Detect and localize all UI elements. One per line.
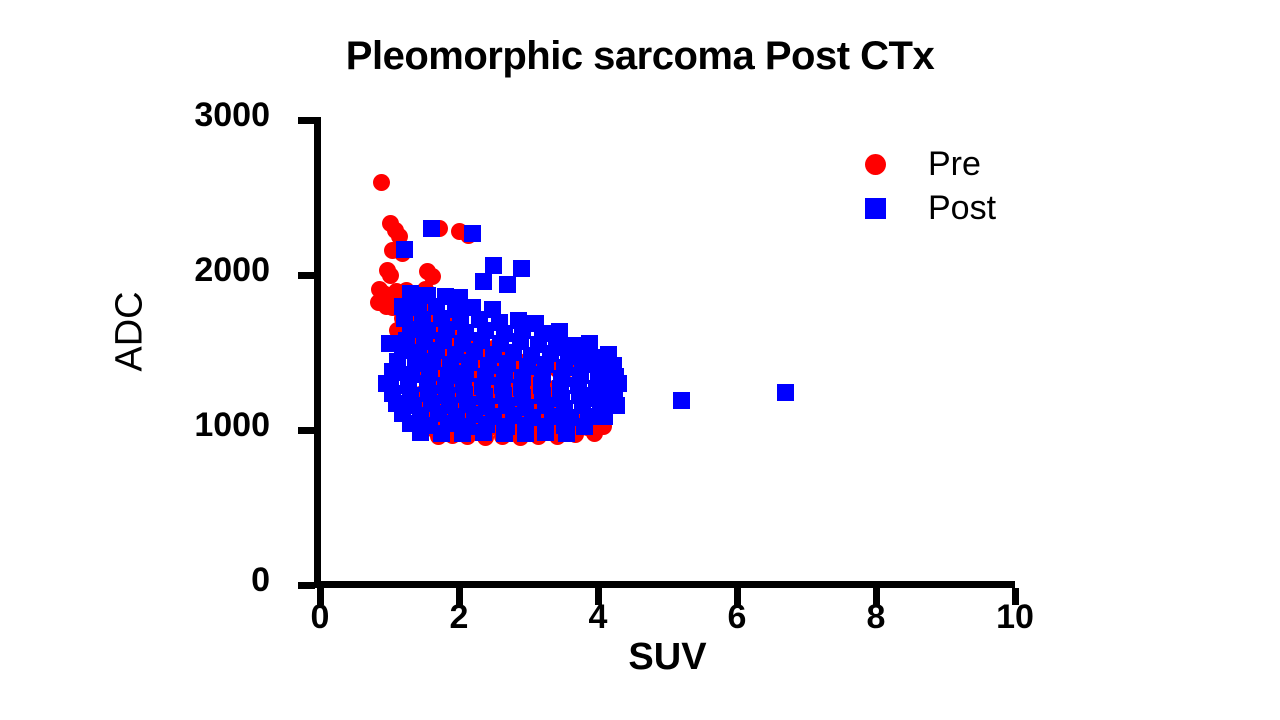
data-point-post	[565, 344, 582, 361]
x-tick-label: 6	[697, 600, 777, 634]
x-tick-label: 4	[558, 600, 638, 634]
square-marker-icon	[865, 198, 886, 219]
y-axis-label: ADC	[109, 182, 152, 482]
data-point-post	[576, 418, 593, 435]
x-tick-label: 10	[975, 600, 1055, 634]
data-point-post	[496, 425, 513, 442]
data-point-post	[454, 425, 471, 442]
data-point-post	[464, 225, 481, 242]
legend-label: Pre	[928, 147, 981, 181]
data-point-post	[548, 339, 565, 356]
y-tick-mark	[298, 272, 315, 279]
y-tick-mark	[298, 117, 315, 124]
x-axis-label: SUV	[320, 636, 1015, 679]
data-point-post	[433, 425, 450, 442]
data-point-post	[777, 384, 794, 401]
chart-title: Pleomorphic sarcoma Post CTx	[0, 34, 1280, 79]
data-point-post	[513, 260, 530, 277]
data-point-post	[558, 425, 575, 442]
data-point-post	[396, 241, 413, 258]
legend-item-pre[interactable]: Pre	[858, 142, 1058, 186]
y-tick-label: 2000	[194, 253, 270, 287]
data-point-post	[475, 424, 492, 441]
data-point-post	[596, 408, 613, 425]
data-point-post	[499, 276, 516, 293]
data-point-post	[412, 424, 429, 441]
legend-swatch-container	[858, 154, 892, 175]
y-tick-label: 0	[251, 563, 270, 597]
y-tick-label: 1000	[194, 408, 270, 442]
y-tick-mark	[298, 427, 315, 434]
y-tick-mark	[298, 582, 315, 589]
legend-label: Post	[928, 191, 996, 225]
y-tick-label: 3000	[194, 98, 270, 132]
data-point-post	[537, 424, 554, 441]
x-tick-label: 0	[280, 600, 360, 634]
scatter-plot-figure: Pleomorphic sarcoma Post CTx 01000200030…	[0, 0, 1280, 720]
data-point-pre	[382, 267, 399, 284]
x-tick-label: 2	[419, 600, 499, 634]
data-point-post	[475, 273, 492, 290]
data-point-pre	[373, 174, 390, 191]
legend-swatch-container	[858, 198, 892, 219]
legend-item-post[interactable]: Post	[858, 186, 1058, 230]
data-point-post	[517, 425, 534, 442]
data-point-post	[673, 392, 690, 409]
data-point-post	[485, 257, 502, 274]
data-point-post	[423, 220, 440, 237]
chart-legend: PrePost	[858, 142, 1058, 230]
data-point-post	[610, 375, 627, 392]
data-point-post	[600, 346, 617, 363]
x-tick-label: 8	[836, 600, 916, 634]
circle-marker-icon	[865, 154, 886, 175]
